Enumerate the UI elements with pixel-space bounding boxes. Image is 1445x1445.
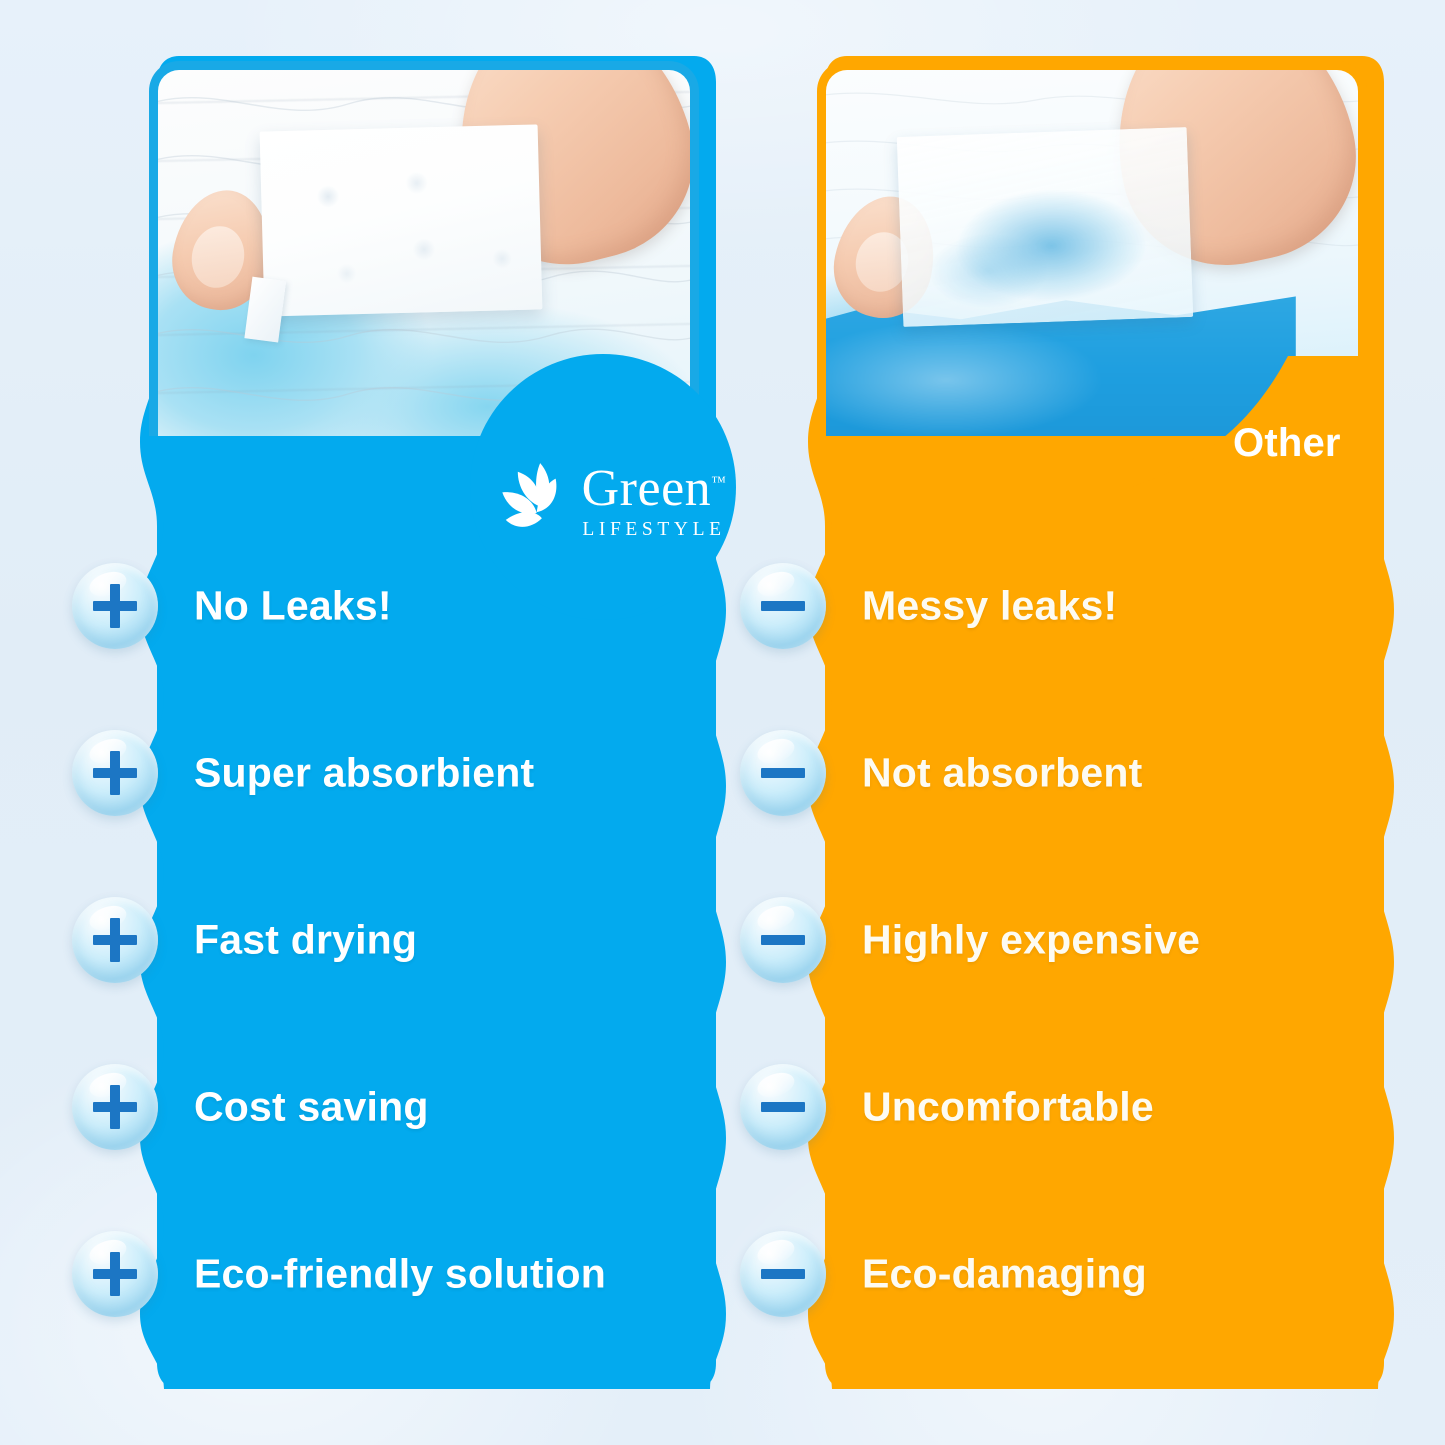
- feature-row: Uncomfortable: [808, 1023, 1376, 1190]
- comparison-column-other: Other Messy leaks! Not absorbent: [808, 56, 1376, 1389]
- feature-list-green-lifestyle: No Leaks! Super absorbient Fast drying: [140, 522, 708, 1357]
- feature-row: Not absorbent: [808, 689, 1376, 856]
- comparison-infographic: Green™ LIFESTYLE No Leaks!: [0, 0, 1445, 1445]
- plus-icon: [72, 1231, 158, 1317]
- feature-label: Uncomfortable: [862, 1083, 1154, 1130]
- dry-tissue: [260, 124, 543, 316]
- minus-icon: [740, 563, 826, 649]
- feature-row: Highly expensive: [808, 856, 1376, 1023]
- feature-label: Eco-friendly solution: [194, 1250, 606, 1297]
- feature-label: Cost saving: [194, 1083, 429, 1130]
- plus-icon: [72, 897, 158, 983]
- logo-trademark: ™: [711, 474, 726, 490]
- plus-glyph: [91, 1083, 139, 1131]
- feature-label: No Leaks!: [194, 582, 392, 629]
- plus-glyph: [91, 916, 139, 964]
- feature-label: Highly expensive: [862, 916, 1200, 963]
- feature-row: No Leaks!: [140, 522, 708, 689]
- minus-glyph: [759, 582, 807, 630]
- column-label-other: Other: [1233, 421, 1341, 466]
- feature-row: Messy leaks!: [808, 522, 1376, 689]
- comparison-column-green-lifestyle: Green™ LIFESTYLE No Leaks!: [140, 56, 708, 1389]
- feature-label: Not absorbent: [862, 749, 1143, 796]
- plus-icon: [72, 1064, 158, 1150]
- minus-glyph: [759, 1250, 807, 1298]
- feature-row: Eco-damaging: [808, 1190, 1376, 1357]
- plus-icon: [72, 563, 158, 649]
- minus-icon: [740, 1064, 826, 1150]
- minus-icon: [740, 730, 826, 816]
- plus-icon: [72, 730, 158, 816]
- feature-label: Fast drying: [194, 916, 417, 963]
- minus-icon: [740, 897, 826, 983]
- minus-glyph: [759, 916, 807, 964]
- plus-glyph: [91, 749, 139, 797]
- plus-glyph: [91, 582, 139, 630]
- feature-label: Super absorbient: [194, 749, 534, 796]
- minus-icon: [740, 1231, 826, 1317]
- feature-label: Eco-damaging: [862, 1250, 1147, 1297]
- feature-row: Fast drying: [140, 856, 708, 1023]
- plus-glyph: [91, 1250, 139, 1298]
- feature-label: Messy leaks!: [862, 582, 1117, 629]
- minus-glyph: [759, 749, 807, 797]
- minus-glyph: [759, 1083, 807, 1131]
- feature-row: Eco-friendly solution: [140, 1190, 708, 1357]
- feature-list-other: Messy leaks! Not absorbent Highly expens…: [808, 522, 1376, 1357]
- logo-name: Green: [582, 460, 712, 517]
- feature-row: Super absorbient: [140, 689, 708, 856]
- feature-row: Cost saving: [140, 1023, 708, 1190]
- wet-tissue: [897, 127, 1193, 327]
